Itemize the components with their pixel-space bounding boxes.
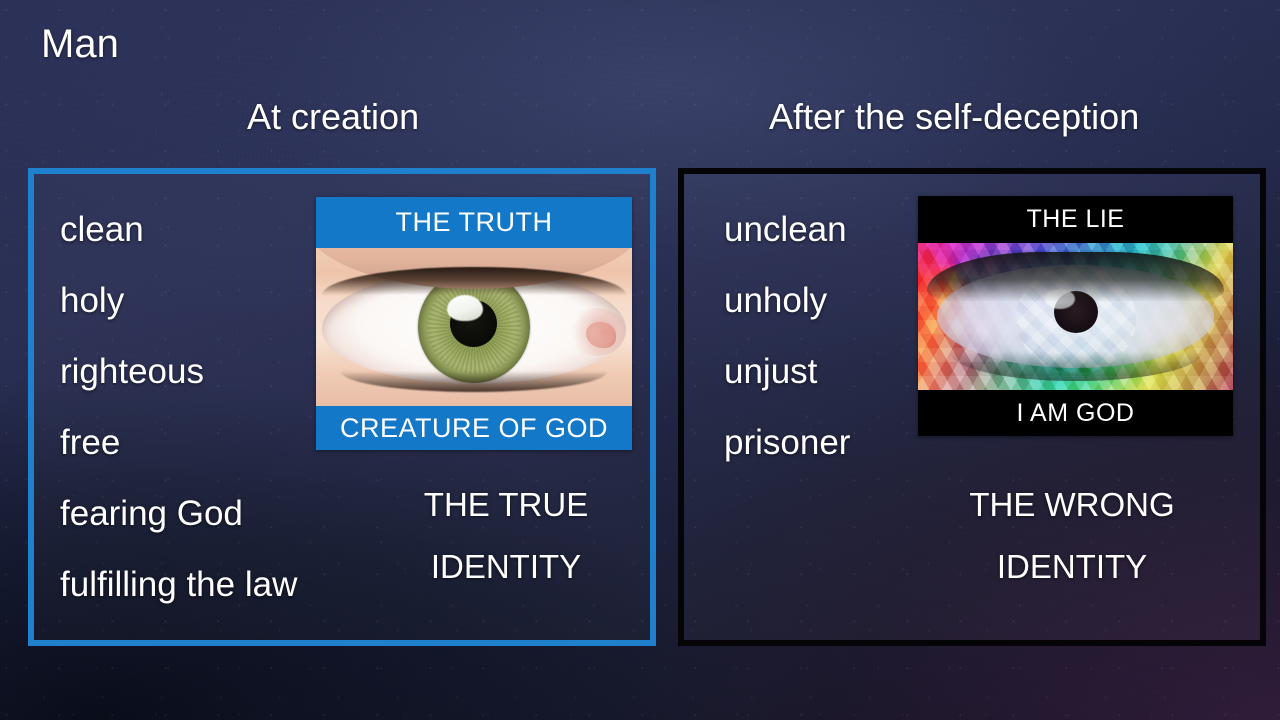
panel-after-self-deception: unclean unholy unjust prisoner THE LIE [678,168,1266,646]
list-item: free [60,407,297,478]
column-heading-right: After the self-deception [769,96,1139,138]
list-item: clean [60,194,297,265]
card-bottom-band-label: I AM GOD [918,390,1233,436]
list-item: righteous [60,336,297,407]
identity-caption-left: THE TRUE IDENTITY [356,474,656,598]
eye-corner-tint [566,308,626,356]
identity-line-2: IDENTITY [896,536,1248,598]
list-item: prisoner [724,407,850,478]
presentation-slide: Man At creation After the self-deception… [0,0,1280,720]
lowpoly-eye-image [918,243,1233,390]
card-top-band-label: THE LIE [918,196,1233,243]
column-heading-left: At creation [247,96,419,138]
upper-eyelid [927,252,1223,302]
list-item: unjust [724,336,850,407]
panel-at-creation: clean holy righteous free fearing God fu… [28,168,656,646]
identity-caption-right: THE WRONG IDENTITY [896,474,1248,598]
attribute-list-right: unclean unholy unjust prisoner [724,194,850,478]
lie-image-card: THE LIE I AM GOD [918,196,1233,436]
card-top-band-label: THE TRUTH [316,197,632,248]
green-eye-image [316,248,632,406]
attribute-list-left: clean holy righteous free fearing God fu… [60,194,297,620]
eye-illustration [316,248,632,406]
card-bottom-band-label: CREATURE OF GOD [316,406,632,450]
list-item: fulfilling the law [60,549,297,620]
identity-line-1: THE TRUE [356,474,656,536]
eye-glint [447,295,483,321]
page-title: Man [41,22,119,67]
list-item: unholy [724,265,850,336]
truth-image-card: THE TRUTH CREATURE OF GOD [316,197,632,450]
list-item: fearing God [60,478,297,549]
identity-line-2: IDENTITY [356,536,656,598]
lower-eyelash [341,371,606,392]
eye-illustration [918,243,1233,390]
list-item: unclean [724,194,850,265]
identity-line-1: THE WRONG [896,474,1248,536]
list-item: holy [60,265,297,336]
